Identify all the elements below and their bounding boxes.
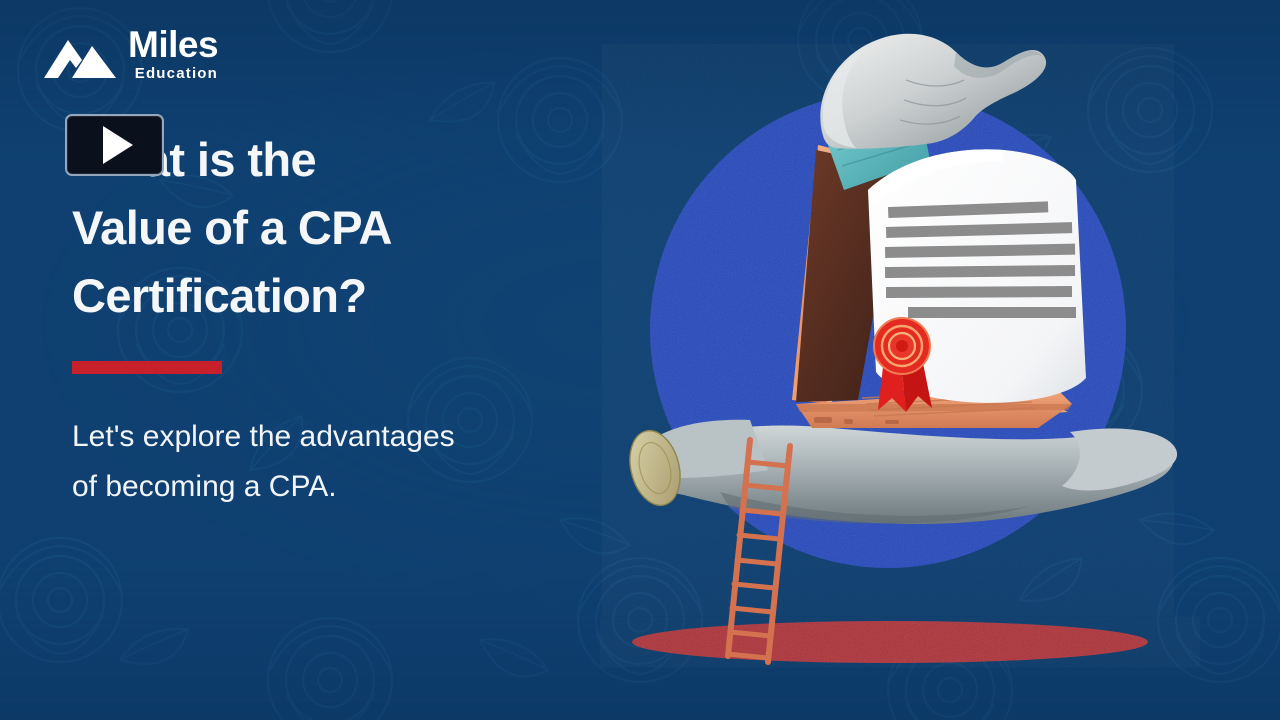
subtitle-text: Let's explore the advantages of becoming… xyxy=(72,412,572,512)
brand-logo[interactable]: Miles Education xyxy=(42,26,218,82)
subcopy-line-2: of becoming a CPA. xyxy=(72,462,572,512)
collage-artwork xyxy=(600,0,1280,720)
headline-line-3: Certification? xyxy=(72,262,542,330)
seal-rosette xyxy=(874,318,930,374)
logo-subtitle: Education xyxy=(135,66,218,81)
slide-canvas: Miles Education What is the Value of a C… xyxy=(0,0,1280,720)
video-play-button[interactable] xyxy=(65,114,164,176)
play-triangle-icon xyxy=(103,126,133,164)
headline-line-2: Value of a CPA xyxy=(72,194,542,262)
logo-title: Miles xyxy=(128,26,218,64)
mountain-peaks-icon xyxy=(42,26,118,82)
subcopy-line-1: Let's explore the advantages xyxy=(72,412,572,462)
accent-divider xyxy=(72,361,222,374)
